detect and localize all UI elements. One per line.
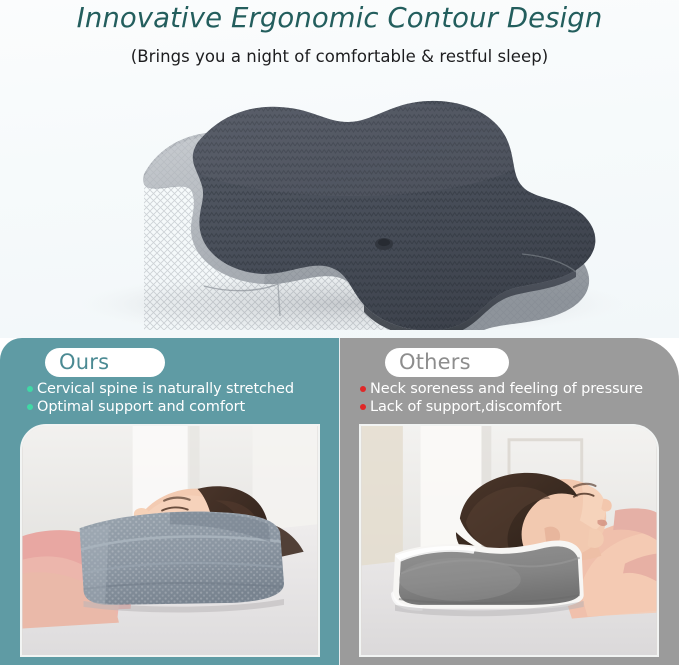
- bullet-text: Lack of support,discomfort: [370, 399, 562, 416]
- bullet-text: Neck soreness and feeling of pressure: [370, 381, 643, 398]
- comparison-section: Ours Cervical spine is naturally stretch…: [0, 338, 679, 665]
- bullet-dot-icon: [27, 386, 33, 392]
- panel-divider: [339, 338, 340, 665]
- hero-section: Innovative Ergonomic Contour Design (Bri…: [0, 0, 679, 338]
- list-item: Optimal support and comfort: [27, 399, 332, 416]
- bullet-text: Cervical spine is naturally stretched: [37, 381, 294, 398]
- product-pillow-image: [52, 78, 632, 330]
- ours-label-pill: Ours: [45, 348, 165, 377]
- others-label-pill: Others: [385, 348, 509, 377]
- ours-photo: [20, 424, 320, 657]
- bullet-dot-icon: [360, 386, 366, 392]
- bullet-dot-icon: [360, 404, 366, 410]
- list-item: Lack of support,discomfort: [360, 399, 672, 416]
- list-item: Cervical spine is naturally stretched: [27, 381, 332, 398]
- bullet-dot-icon: [27, 404, 33, 410]
- product-marketing-image: Innovative Ergonomic Contour Design (Bri…: [0, 0, 679, 665]
- ours-bullet-list: Cervical spine is naturally stretched Op…: [27, 381, 332, 417]
- ours-label: Ours: [59, 352, 109, 373]
- page-subtitle: (Brings you a night of comfortable & res…: [0, 47, 679, 66]
- others-label: Others: [399, 352, 471, 373]
- others-photo: [359, 424, 659, 657]
- list-item: Neck soreness and feeling of pressure: [360, 381, 672, 398]
- page-title: Innovative Ergonomic Contour Design: [0, 2, 679, 34]
- bullet-text: Optimal support and comfort: [37, 399, 245, 416]
- others-bullet-list: Neck soreness and feeling of pressure La…: [360, 381, 672, 417]
